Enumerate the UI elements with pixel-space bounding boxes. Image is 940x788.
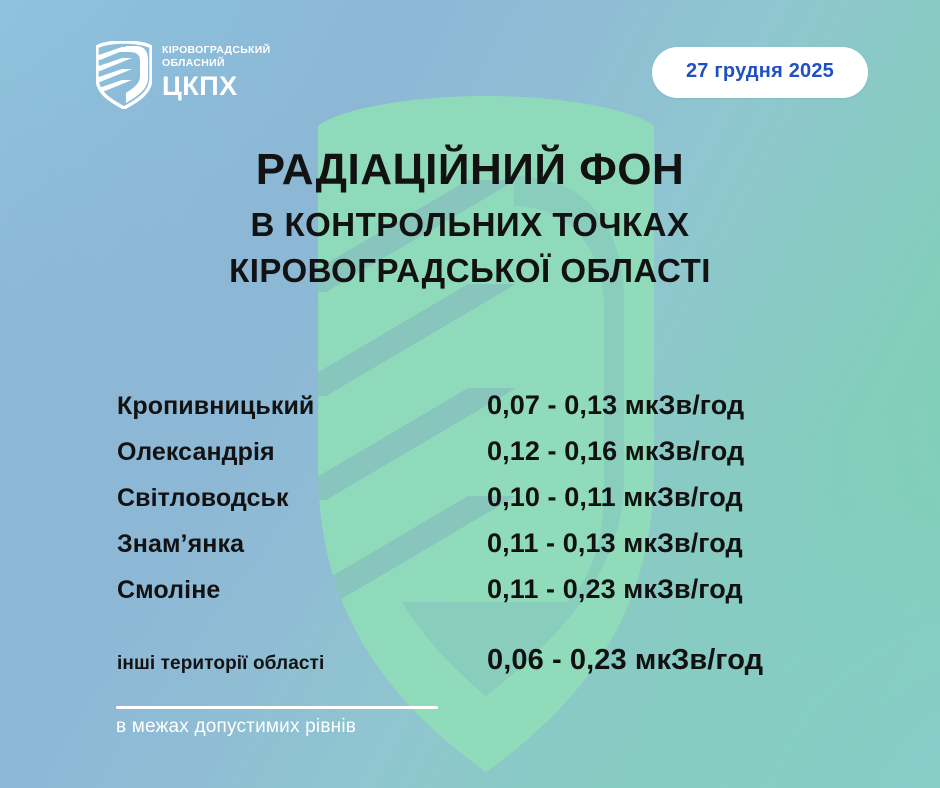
- divider: [116, 706, 438, 709]
- other-territories-value: 0,06 - 0,23 мкЗв/год: [487, 644, 763, 677]
- dose-rate-value: 0,11 - 0,23 мкЗв/год: [487, 574, 743, 605]
- title-line-2: В КОНТРОЛЬНИХ ТОЧКАХ: [0, 202, 940, 248]
- dose-rate-value: 0,12 - 0,16 мкЗв/год: [487, 436, 744, 467]
- brand-line-2: ОБЛАСНИЙ: [162, 57, 270, 70]
- table-row: Кропивницький 0,07 - 0,13 мкЗв/год: [117, 390, 877, 436]
- location-name: Знам’янка: [117, 530, 487, 559]
- title-line-3: КІРОВОГРАДСЬКОЇ ОБЛАСТІ: [0, 248, 940, 294]
- location-name: Кропивницький: [117, 392, 487, 421]
- brand-abbreviation: ЦКПХ: [162, 72, 270, 101]
- location-name: Смоліне: [117, 576, 487, 605]
- table-row: Олександрія 0,12 - 0,16 мкЗв/год: [117, 436, 877, 482]
- brand-logo: КІРОВОГРАДСЬКИЙ ОБЛАСНИЙ ЦКПХ: [96, 41, 270, 109]
- other-territories-row: інші території області 0,06 - 0,23 мкЗв/…: [117, 644, 897, 677]
- footnote-text: в межах допустимих рівнів: [116, 716, 356, 738]
- location-name: Світловодськ: [117, 484, 487, 513]
- shield-logo-icon: [96, 41, 152, 109]
- date-badge: 27 грудня 2025: [652, 47, 868, 98]
- page-title: РАДІАЦІЙНИЙ ФОН В КОНТРОЛЬНИХ ТОЧКАХ КІР…: [0, 144, 940, 294]
- poster-canvas: КІРОВОГРАДСЬКИЙ ОБЛАСНИЙ ЦКПХ 27 грудня …: [0, 0, 940, 788]
- title-line-1: РАДІАЦІЙНИЙ ФОН: [0, 144, 940, 196]
- brand-line-1: КІРОВОГРАДСЬКИЙ: [162, 44, 270, 57]
- readings-list: Кропивницький 0,07 - 0,13 мкЗв/год Олекс…: [117, 390, 877, 620]
- dose-rate-value: 0,07 - 0,13 мкЗв/год: [487, 390, 744, 421]
- dose-rate-value: 0,11 - 0,13 мкЗв/год: [487, 528, 743, 559]
- table-row: Знам’янка 0,11 - 0,13 мкЗв/год: [117, 528, 877, 574]
- table-row: Смоліне 0,11 - 0,23 мкЗв/год: [117, 574, 877, 620]
- table-row: Світловодськ 0,10 - 0,11 мкЗв/год: [117, 482, 877, 528]
- location-name: Олександрія: [117, 438, 487, 467]
- other-territories-label: інші території області: [117, 653, 487, 675]
- dose-rate-value: 0,10 - 0,11 мкЗв/год: [487, 482, 743, 513]
